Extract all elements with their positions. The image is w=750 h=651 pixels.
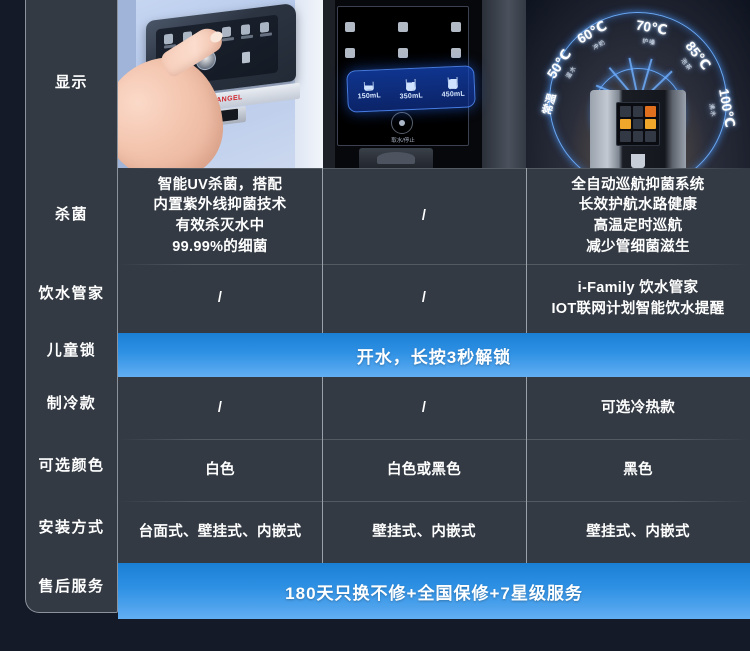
icon-milk bbox=[345, 48, 355, 60]
row-label-installation: 安装方式 bbox=[26, 495, 117, 557]
text-line: 白色或黑色 bbox=[387, 460, 461, 481]
icon-warm-water bbox=[345, 22, 355, 34]
text-line: i-Family 饮水管家 bbox=[578, 280, 699, 296]
text-line: 减少管细菌滋生 bbox=[586, 239, 690, 255]
dispense-button-label: 取水/停止 bbox=[375, 136, 431, 144]
device-key-active bbox=[645, 106, 656, 117]
cell-installation-p1: 台面式、壁挂式、内嵌式 bbox=[118, 501, 322, 563]
text-line: / bbox=[422, 398, 426, 419]
cell-cooling-p3: 可选冷热款 bbox=[526, 377, 750, 439]
row-water-butler: / / i-Family 饮水管家 IOT联网计划智能饮水提醒 bbox=[118, 264, 750, 333]
text-line: 有效杀灭水中 bbox=[176, 218, 265, 234]
cell-colors-p2: 白色或黑色 bbox=[322, 439, 526, 501]
text-line: 壁挂式、内嵌式 bbox=[372, 522, 476, 543]
cell-water-butler-p3: i-Family 饮水管家 IOT联网计划智能饮水提醒 bbox=[526, 264, 750, 333]
row-after-sales: 180天只换不修+全国保修+7星级服务 bbox=[118, 563, 750, 619]
device-key bbox=[633, 119, 644, 130]
panel-icon-row-bottom bbox=[345, 48, 461, 60]
text-line: 智能UV杀菌，搭配 bbox=[158, 177, 282, 193]
cup-icon bbox=[448, 76, 459, 88]
row-label-colors: 可选颜色 bbox=[26, 433, 117, 495]
icon-tea bbox=[398, 48, 408, 60]
row-sterilization: 智能UV杀菌，搭配 内置紫外线抑菌技术 有效杀灭水中 99.99%的细菌 / 全… bbox=[118, 168, 750, 264]
row-label-after-sales: 售后服务 bbox=[26, 557, 117, 613]
page-bottom-filler bbox=[0, 619, 750, 651]
volume-label: 350mL bbox=[400, 92, 423, 100]
product-photos-row: 安吉尔ANGEL bbox=[118, 0, 750, 168]
cell-colors-p3: 黑色 bbox=[526, 439, 750, 501]
text-line: / bbox=[218, 288, 222, 309]
text-line: 壁挂式、内嵌式 bbox=[586, 522, 690, 543]
row-installation: 台面式、壁挂式、内嵌式 壁挂式、内嵌式 壁挂式、内嵌式 bbox=[118, 501, 750, 563]
volume-badge-icon bbox=[242, 52, 250, 64]
text-line: / bbox=[422, 206, 426, 227]
device-key bbox=[620, 131, 631, 142]
text-line: 黑色 bbox=[623, 460, 653, 481]
product-photo-temperature-arc: 常温 50℃ 温水 60℃ 冲奶 70℃ 护嗓 85℃ 泡茶 100℃ 沸水 bbox=[526, 0, 750, 168]
text-line: / bbox=[218, 398, 222, 419]
text-line: 白色 bbox=[205, 460, 235, 481]
cup-icon bbox=[406, 78, 417, 90]
volume-option-450[interactable]: 450mL bbox=[441, 76, 465, 98]
cell-water-butler-p2: / bbox=[322, 264, 526, 333]
cell-after-sales-merged: 180天只换不修+全国保修+7星级服务 bbox=[118, 563, 750, 619]
panel-icon-6 bbox=[260, 22, 269, 33]
row-label-water-butler: 饮水管家 bbox=[26, 258, 117, 327]
cell-water-butler-p1: / bbox=[118, 264, 322, 333]
dispense-button-dot bbox=[399, 120, 405, 126]
text-line: IOT联网计划智能饮水提醒 bbox=[551, 301, 724, 317]
icon-hot-water bbox=[398, 22, 408, 34]
volume-label: 450mL bbox=[442, 90, 465, 98]
panel-icon-row-top bbox=[345, 22, 461, 34]
row-cooling: / / 可选冷热款 bbox=[118, 377, 750, 439]
volume-option-350[interactable]: 350mL bbox=[399, 78, 423, 100]
device-screen bbox=[616, 102, 660, 146]
row-label-display: 显示 bbox=[26, 0, 117, 168]
temp-label-70: 70℃ 护嗓 bbox=[633, 17, 668, 48]
cell-child-lock-merged: 开水，长按3秒解锁 bbox=[118, 333, 750, 377]
cell-sterilization-p1: 智能UV杀菌，搭配 内置紫外线抑菌技术 有效杀灭水中 99.99%的细菌 bbox=[118, 168, 322, 264]
drip-tray-grate bbox=[377, 152, 415, 164]
cell-sterilization-p3: 全自动巡航抑菌系统 长效护航水路健康 高温定时巡航 减少管细菌滋生 bbox=[526, 168, 750, 264]
device-key bbox=[633, 131, 644, 142]
cell-colors-p1: 白色 bbox=[118, 439, 322, 501]
cell-cooling-p1: / bbox=[118, 377, 322, 439]
icon-boiling bbox=[451, 48, 461, 60]
row-child-lock: 开水，长按3秒解锁 bbox=[118, 333, 750, 377]
device-key bbox=[633, 106, 644, 117]
text-line: 可选冷热款 bbox=[601, 398, 675, 419]
cell-sterilization-p2: / bbox=[322, 168, 526, 264]
volume-option-150[interactable]: 150mL bbox=[357, 81, 381, 100]
text-line: 全自动巡航抑菌系统 bbox=[571, 177, 704, 193]
cell-installation-p2: 壁挂式、内嵌式 bbox=[322, 501, 526, 563]
panel-icon-5 bbox=[241, 24, 250, 35]
text-line: 内置紫外线抑菌技术 bbox=[153, 197, 286, 213]
device-spout bbox=[631, 154, 645, 168]
row-label-column: 显示 杀菌 饮水管家 儿童锁 制冷款 可选颜色 安装方式 售后服务 bbox=[25, 0, 118, 613]
text-line: / bbox=[422, 288, 426, 309]
device-key-active bbox=[620, 119, 631, 130]
text-line: 长效护航水路健康 bbox=[579, 197, 697, 213]
volume-selector-highlight[interactable]: 150mL 350mL 450mL bbox=[346, 65, 476, 113]
icon-child-lock bbox=[451, 22, 461, 34]
cell-installation-p3: 壁挂式、内嵌式 bbox=[526, 501, 750, 563]
cell-cooling-p2: / bbox=[322, 377, 526, 439]
row-label-child-lock: 儿童锁 bbox=[26, 327, 117, 371]
panel-icon-1 bbox=[164, 34, 173, 45]
row-colors: 白色 白色或黑色 黑色 bbox=[118, 439, 750, 501]
panel-body-right bbox=[482, 0, 526, 168]
panel-edge-left bbox=[323, 0, 335, 168]
volume-label: 150mL bbox=[358, 92, 381, 100]
water-purifier-device bbox=[590, 90, 686, 168]
row-label-sterilization: 杀菌 bbox=[26, 168, 117, 258]
text-line: 99.99%的细菌 bbox=[172, 239, 267, 255]
product-photo-hand-touch-panel: 安吉尔ANGEL bbox=[118, 0, 323, 168]
cup-icon bbox=[364, 82, 374, 91]
text-line: 台面式、壁挂式、内嵌式 bbox=[139, 522, 302, 543]
product-photo-touch-volume-panel: 150mL 350mL 450mL 取水/停止 bbox=[323, 0, 526, 168]
product-comparison-table: 显示 杀菌 饮水管家 儿童锁 制冷款 可选颜色 安装方式 售后服务 智能UV杀菌… bbox=[0, 0, 750, 651]
text-line: 高温定时巡航 bbox=[594, 218, 683, 234]
row-label-cooling: 制冷款 bbox=[26, 371, 117, 433]
device-key bbox=[645, 131, 656, 142]
device-key-active bbox=[645, 119, 656, 130]
device-key bbox=[620, 106, 631, 117]
